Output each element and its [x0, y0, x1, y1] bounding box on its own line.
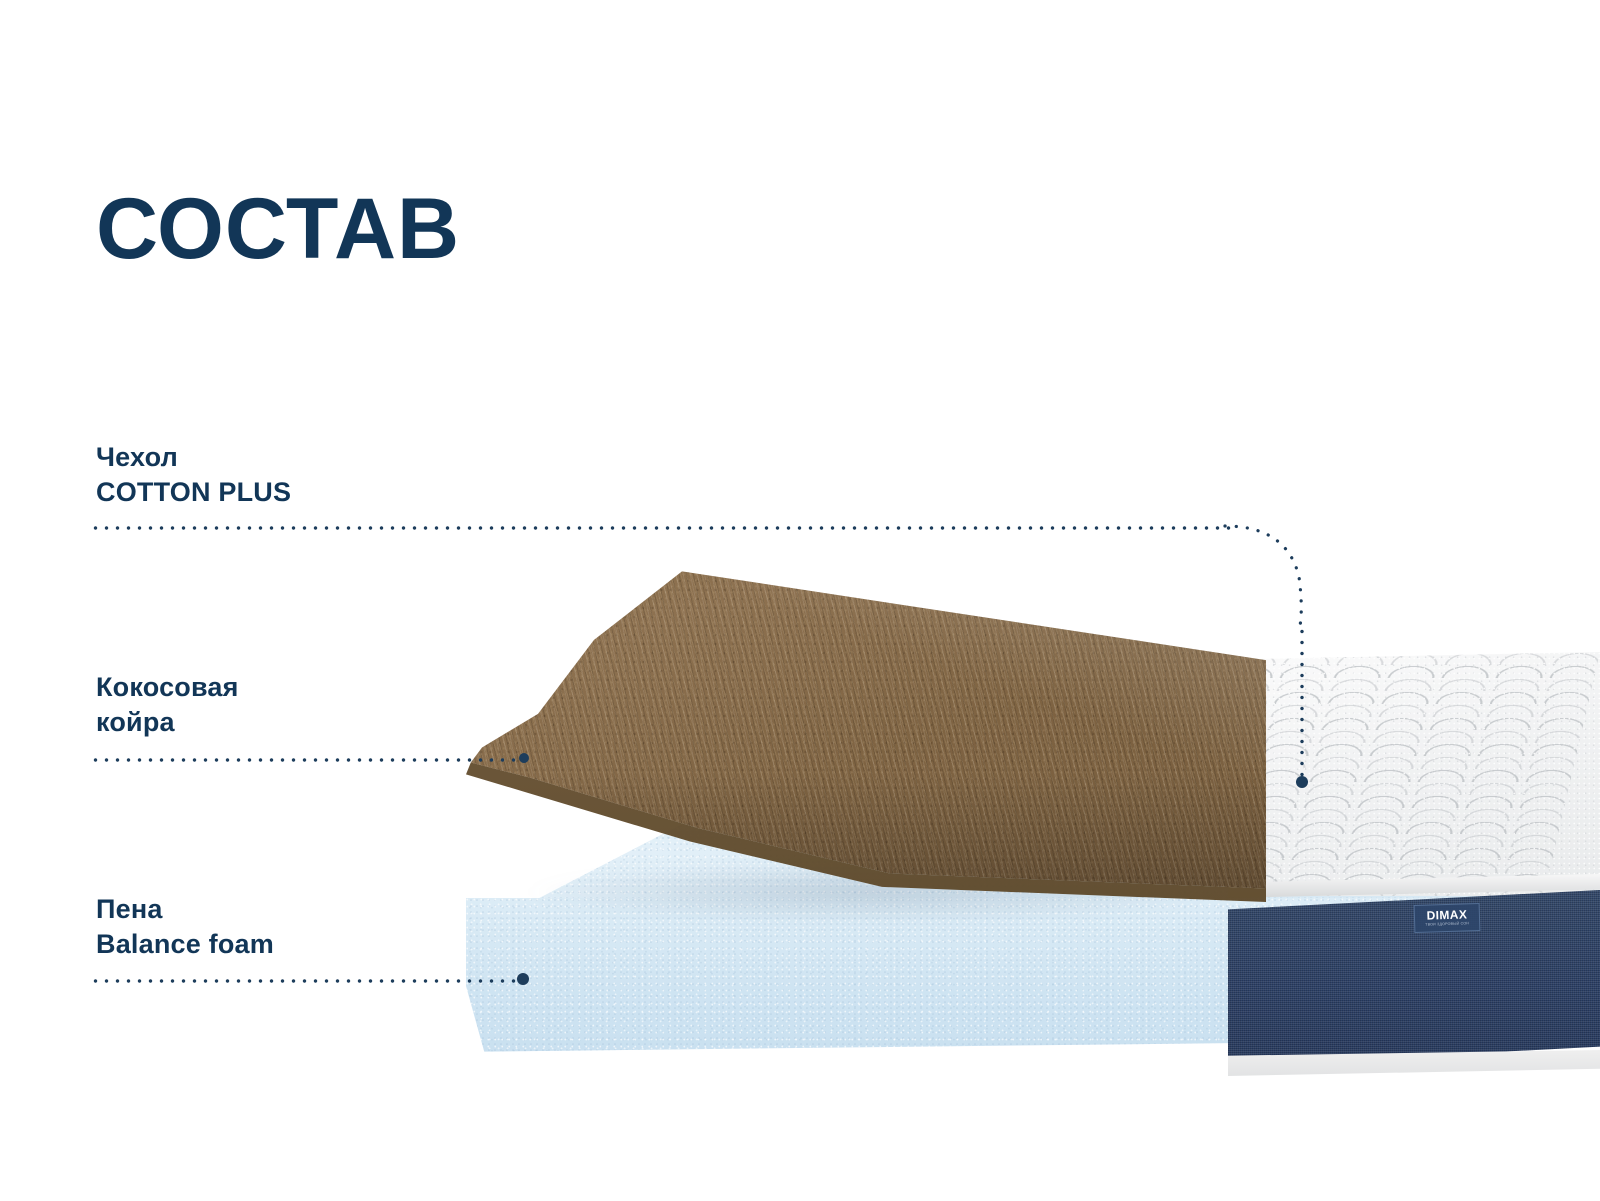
leader-line-cover	[90, 526, 1236, 530]
leader-line-cover-curve	[1225, 515, 1355, 795]
brand-tag: DIMAX ТВОИ ЗДОРОВЫЙ СОН	[1414, 903, 1481, 933]
composition-infographic: СОСТАВ DIMAX ТВОИ ЗДОРОВЫЙ СОН	[0, 0, 1600, 1201]
coir-top-face	[466, 566, 1266, 902]
label-cover: Чехол COTTON PLUS	[96, 440, 291, 509]
leader-line-cover-vertical	[1300, 626, 1304, 778]
coir-layer	[466, 566, 1266, 902]
leader-endpoint-cover	[1296, 776, 1308, 788]
coir-fiber-texture	[466, 566, 1266, 902]
leader-line-coir	[90, 758, 520, 762]
brand-name: DIMAX	[1426, 909, 1467, 922]
label-foam: Пена Balance foam	[96, 892, 274, 961]
leader-endpoint-coir	[519, 753, 529, 763]
brand-tagline: ТВОИ ЗДОРОВЫЙ СОН	[1425, 923, 1469, 928]
coir-shading	[466, 566, 1266, 902]
leader-line-foam	[90, 979, 520, 983]
leader-endpoint-foam	[517, 973, 529, 985]
label-coir: Кокосовая койра	[96, 670, 239, 739]
mattress-illustration: DIMAX ТВОИ ЗДОРОВЫЙ СОН	[0, 0, 1600, 1201]
